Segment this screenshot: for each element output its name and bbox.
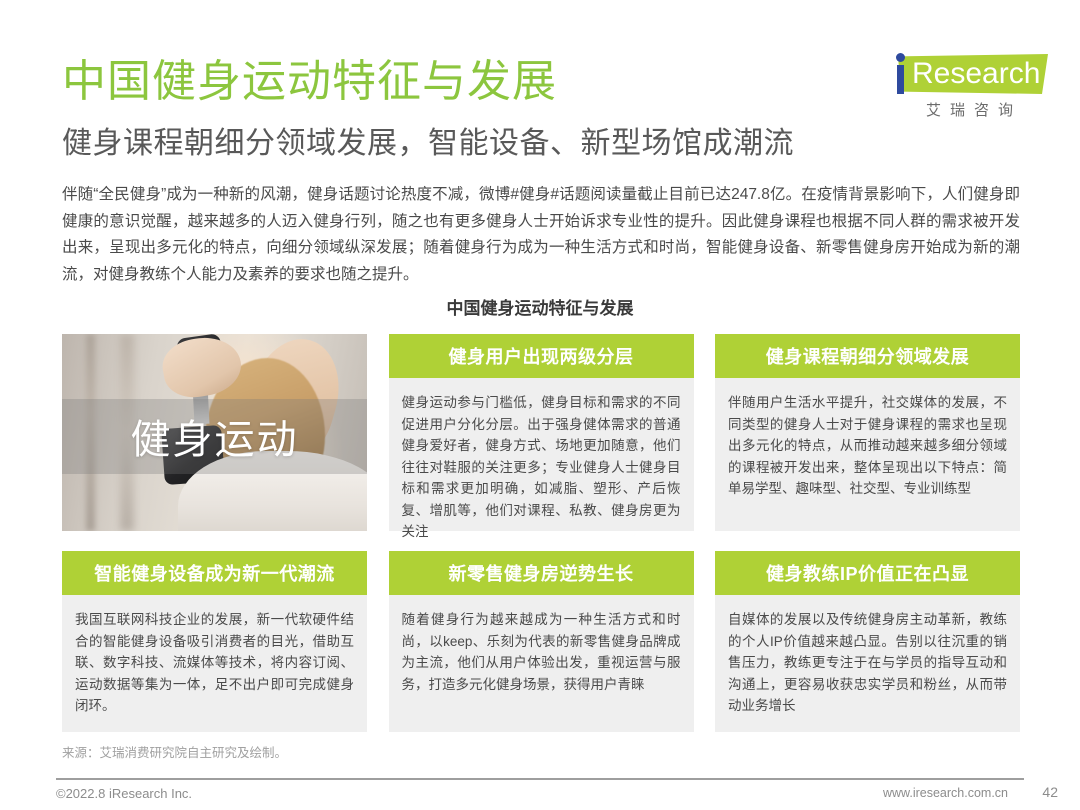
card-cell-2: 健身课程朝细分领域发展 伴随用户生活水平提升，社交媒体的发展，不同类型的健身人士… (715, 334, 1020, 531)
iresearch-logo: Research 艾瑞咨询 (872, 52, 1048, 126)
card-row-bottom: 智能健身设备成为新一代潮流 我国互联网科技企业的发展，新一代软硬件结合的智能健身… (62, 551, 1020, 732)
card-heading: 健身课程朝细分领域发展 (715, 334, 1020, 378)
slide-root: 中国健身运动特征与发展 健身课程朝细分领域发展，智能设备、新型场馆成潮流 Res… (0, 0, 1080, 810)
info-card: 健身用户出现两级分层 健身运动参与门槛低，健身目标和需求的不同促进用户分化分层。… (389, 334, 694, 531)
footer-page-number: 42 (1042, 784, 1058, 800)
card-cell-4: 新零售健身房逆势生长 随着健身行为越来越成为一种生活方式和时尚，以keep、乐刻… (389, 551, 694, 732)
card-heading: 新零售健身房逆势生长 (389, 551, 694, 595)
card-heading: 健身教练IP价值正在凸显 (715, 551, 1020, 595)
card-body: 我国互联网科技企业的发展，新一代软硬件结合的智能健身设备吸引消费者的目光，借助互… (62, 595, 367, 732)
card-body: 自媒体的发展以及传统健身房主动革新，教练的个人IP价值越来越凸显。告别以往沉重的… (715, 595, 1020, 732)
logo-i-dot-icon (896, 53, 905, 62)
slide-header: 中国健身运动特征与发展 健身课程朝细分领域发展，智能设备、新型场馆成潮流 Res… (0, 0, 1080, 175)
card-body: 健身运动参与门槛低，健身目标和需求的不同促进用户分化分层。出于强身健体需求的普通… (389, 378, 694, 555)
chart-title: 中国健身运动特征与发展 (0, 297, 1080, 321)
card-cell-5: 健身教练IP价值正在凸显 自媒体的发展以及传统健身房主动革新，教练的个人IP价值… (715, 551, 1020, 732)
footer-divider (56, 778, 1024, 780)
card-body: 伴随用户生活水平提升，社交媒体的发展，不同类型的健身人士对于健身课程的需求也呈现… (715, 378, 1020, 531)
source-note: 来源：艾瑞消费研究院自主研究及绘制。 (62, 744, 287, 762)
card-grid: 健身运动 健身用户出现两级分层 健身运动参与门槛低，健身目标和需求的不同促进用户… (62, 334, 1020, 732)
page-subtitle: 健身课程朝细分领域发展，智能设备、新型场馆成潮流 (62, 124, 794, 164)
info-card: 新零售健身房逆势生长 随着健身行为越来越成为一种生活方式和时尚，以keep、乐刻… (389, 551, 694, 732)
logo-chinese-name: 艾瑞咨询 (900, 101, 1048, 121)
page-title: 中国健身运动特征与发展 (62, 54, 557, 110)
info-card: 智能健身设备成为新一代潮流 我国互联网科技企业的发展，新一代软硬件结合的智能健身… (62, 551, 367, 732)
logo-wordmark: Research (912, 57, 1040, 91)
footer-url: www.iresearch.com.cn (883, 786, 1008, 800)
logo-mark: Research (872, 52, 1048, 98)
card-cell-3: 智能健身设备成为新一代潮流 我国互联网科技企业的发展，新一代软硬件结合的智能健身… (62, 551, 367, 732)
photo-caption: 健身运动 (62, 399, 367, 474)
card-row-top: 健身运动 健身用户出现两级分层 健身运动参与门槛低，健身目标和需求的不同促进用户… (62, 334, 1020, 531)
info-card: 健身课程朝细分领域发展 伴随用户生活水平提升，社交媒体的发展，不同类型的健身人士… (715, 334, 1020, 531)
fitness-photo: 健身运动 (62, 334, 367, 531)
card-cell-1: 健身用户出现两级分层 健身运动参与门槛低，健身目标和需求的不同促进用户分化分层。… (389, 334, 694, 531)
info-card: 健身教练IP价值正在凸显 自媒体的发展以及传统健身房主动革新，教练的个人IP价值… (715, 551, 1020, 732)
photo-cell: 健身运动 (62, 334, 367, 531)
card-heading: 智能健身设备成为新一代潮流 (62, 551, 367, 595)
intro-paragraph: 伴随“全民健身”成为一种新的风潮，健身话题讨论热度不减，微博#健身#话题阅读量截… (62, 182, 1020, 288)
logo-i-stem-icon (897, 65, 904, 94)
card-body: 随着健身行为越来越成为一种生活方式和时尚，以keep、乐刻为代表的新零售健身品牌… (389, 595, 694, 732)
card-heading: 健身用户出现两级分层 (389, 334, 694, 378)
footer-copyright: ©2022.8 iResearch Inc. (56, 786, 192, 801)
